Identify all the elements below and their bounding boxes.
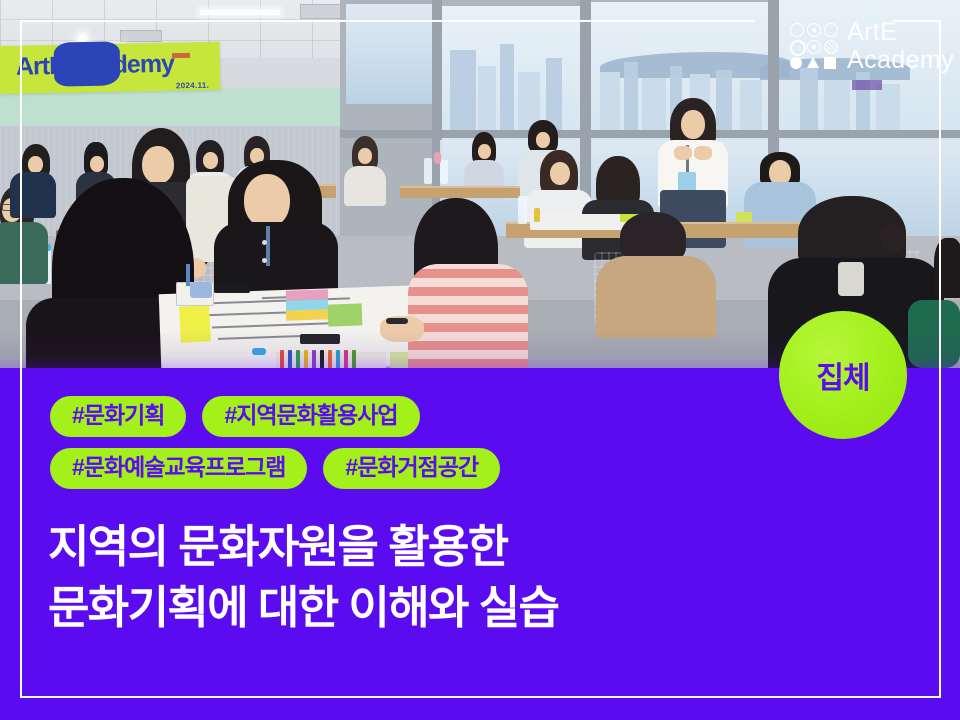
filled-triangle-icon — [807, 57, 819, 68]
cup — [190, 282, 212, 298]
circle-ring-icon — [790, 40, 806, 56]
building — [500, 44, 514, 130]
arte-academy-logo: ArtE Academy — [790, 18, 954, 74]
filled-square-icon — [824, 57, 836, 69]
person-hair — [934, 238, 960, 298]
button — [262, 258, 267, 263]
water-bottle — [440, 160, 448, 184]
hashtag-row-1: #문화기획 #지역문화활용사업 — [50, 396, 770, 437]
facilitator-face — [142, 146, 174, 184]
frame-right — [939, 20, 941, 698]
building — [800, 68, 818, 130]
window-pane — [346, 4, 432, 104]
building — [624, 62, 638, 130]
window-mullion — [340, 130, 960, 138]
building — [450, 50, 476, 130]
person-body — [596, 256, 716, 338]
hashtag-culture-planning[interactable]: #문화기획 — [50, 396, 186, 437]
person-face — [90, 156, 104, 172]
table — [400, 186, 520, 198]
collar — [838, 262, 864, 296]
category-badge-label: 집체 — [816, 353, 869, 397]
category-badge: 집체 — [779, 311, 907, 439]
presenter-hands — [674, 146, 692, 160]
hashtag-list: #문화기획 #지역문화활용사업 #문화예술교육프로그램 #문화거점공간 — [50, 396, 770, 500]
hashtag-culture-hub-space[interactable]: #문화거점공간 — [323, 448, 500, 489]
banner-date: 2024.11. — [176, 81, 209, 91]
presenter-face — [681, 110, 705, 139]
sticky-note — [328, 303, 363, 326]
person-face — [358, 148, 372, 164]
logo-line-2: Academy — [847, 46, 954, 74]
person-face — [478, 144, 491, 159]
water-bottle — [424, 158, 432, 184]
bracelet — [386, 318, 408, 324]
hashtag-local-culture-project[interactable]: #지역문화활용사업 — [202, 396, 419, 437]
logo-shape-grid — [790, 23, 836, 69]
person-face — [550, 162, 570, 185]
building — [716, 70, 732, 130]
filled-circle-icon — [790, 57, 802, 69]
sticky-note — [286, 309, 328, 320]
circle-dot-icon — [807, 40, 821, 54]
button — [262, 240, 267, 245]
hashtag-row-2: #문화예술교육프로그램 #문화거점공간 — [50, 448, 770, 489]
person-body — [10, 172, 56, 218]
banner-title: ArtE Academy — [16, 49, 197, 84]
frame-top-left-segment — [20, 20, 755, 22]
circle-hatched-icon — [824, 40, 838, 54]
building — [642, 78, 666, 130]
person-face — [536, 132, 550, 148]
sticky-note — [736, 212, 752, 222]
frame-bottom — [20, 696, 941, 698]
person-face — [203, 152, 218, 169]
logo-line-1: ArtE — [847, 18, 954, 46]
person-body — [0, 222, 48, 284]
circle-dot-icon — [807, 23, 821, 37]
building — [478, 66, 496, 130]
person-face — [28, 156, 43, 173]
person-body — [344, 166, 386, 206]
water-bottle — [518, 196, 527, 224]
hashtag-arts-education-program[interactable]: #문화예술교육프로그램 — [50, 448, 307, 489]
building — [876, 84, 900, 130]
circle-outline-icon — [790, 23, 804, 37]
building — [740, 80, 762, 130]
ceiling-vent — [120, 30, 162, 42]
page-title-line-2: 문화기획에 대한 이해와 실습 — [48, 577, 558, 638]
frame-left — [20, 20, 22, 698]
ceiling-light — [200, 10, 280, 15]
billboard — [852, 80, 882, 90]
marker-pen — [534, 208, 540, 222]
page-title-line-1: 지역의 문화자원을 활용한 — [48, 516, 558, 577]
logo-wordmark: ArtE Academy — [847, 18, 954, 74]
building — [546, 58, 562, 130]
promo-card: ArtE Academy 2024.11. — [0, 0, 960, 720]
building — [824, 80, 850, 130]
smartphone — [214, 284, 250, 293]
circle-outline-icon — [824, 23, 838, 37]
cup — [434, 152, 441, 164]
person-face — [244, 174, 290, 228]
building — [600, 72, 620, 130]
hair-bun — [880, 224, 906, 252]
page-title: 지역의 문화자원을 활용한 문화기획에 대한 이해와 실습 — [48, 516, 558, 638]
presenter-hands — [694, 146, 712, 160]
